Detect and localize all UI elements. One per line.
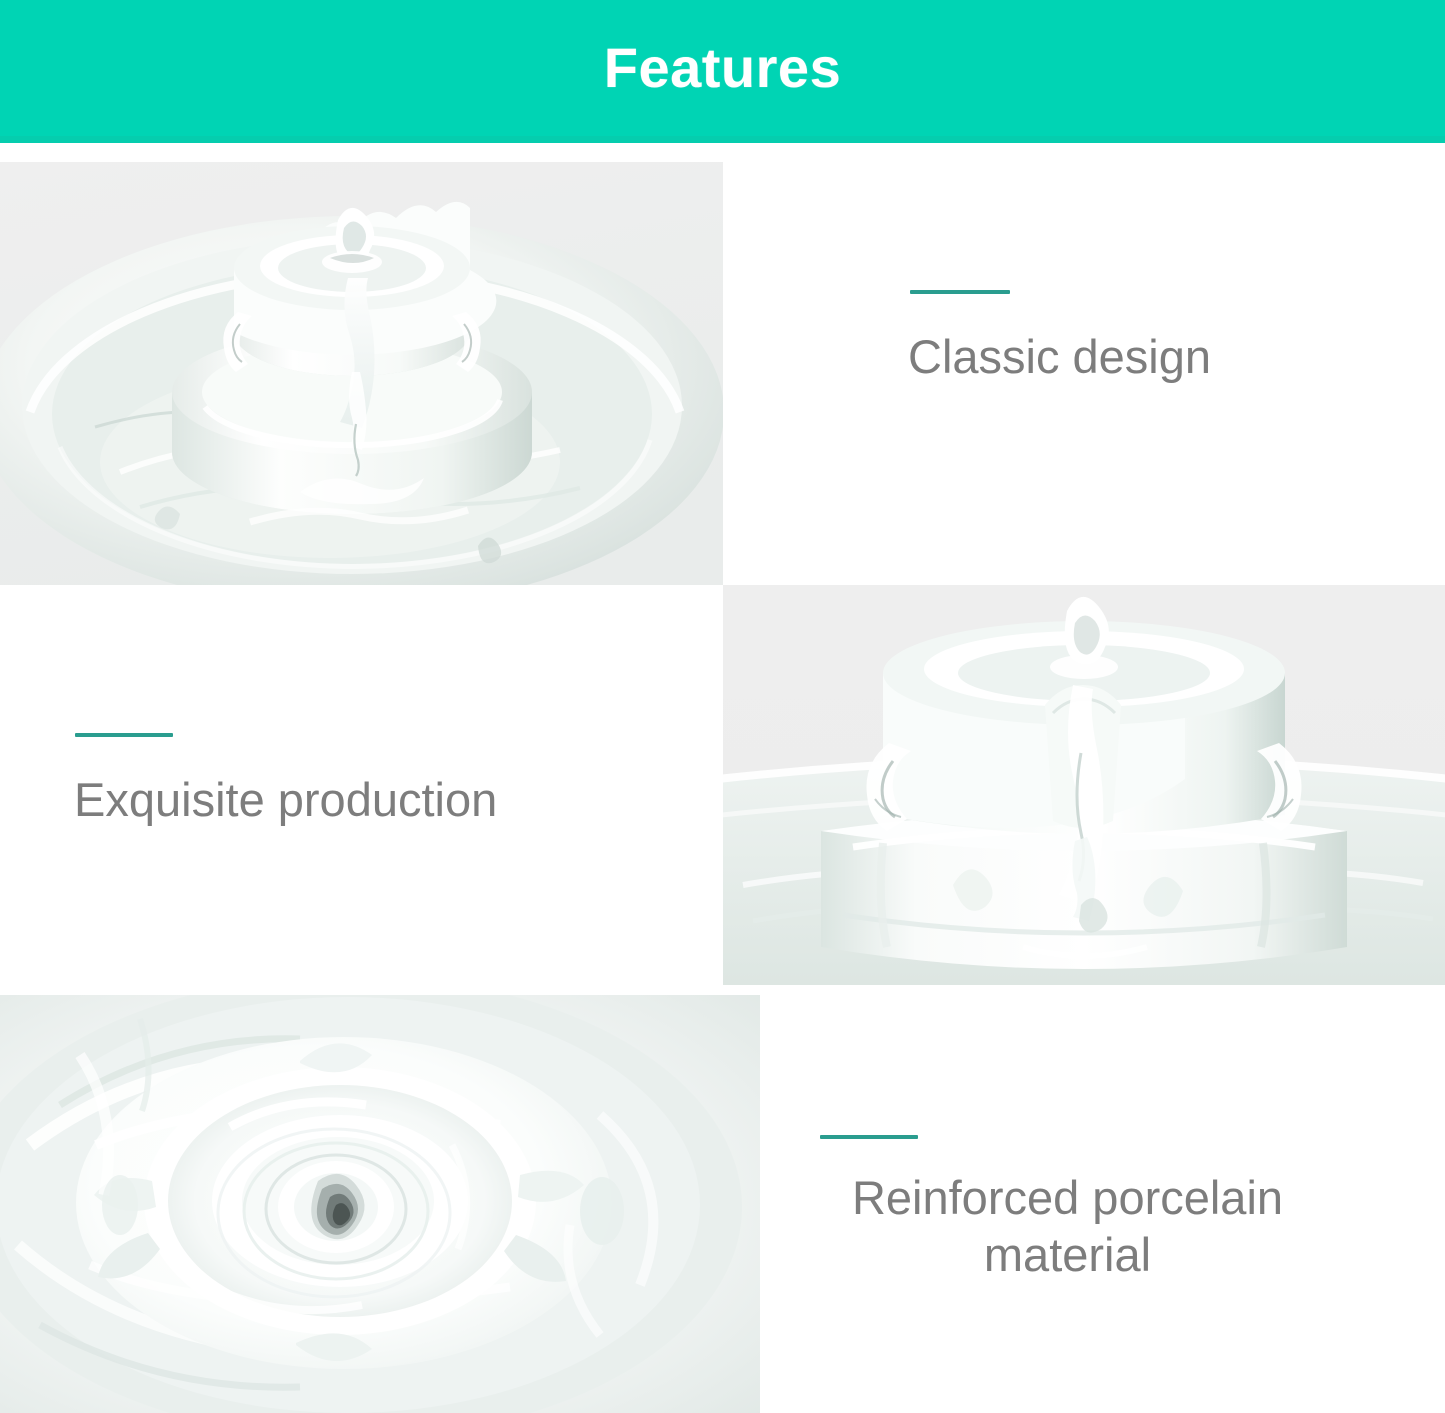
accent-rule-classic-design — [910, 290, 1010, 294]
feature-photo-classic-design — [0, 162, 723, 585]
feature-text-classic-design: Classic design — [880, 290, 1360, 450]
accent-rule-exquisite-production — [75, 733, 173, 737]
page-title: Features — [604, 40, 841, 96]
fountain-front-closeup-illustration — [723, 585, 1445, 985]
feature-text-exquisite-production: Exquisite production — [50, 733, 670, 893]
feature-caption-exquisite-production: Exquisite production — [74, 771, 670, 828]
accent-rule-reinforced-porcelain — [820, 1135, 918, 1139]
feature-photo-reinforced-porcelain — [0, 995, 760, 1413]
fountain-topdown-illustration — [0, 995, 760, 1413]
feature-photo-exquisite-production — [723, 585, 1445, 985]
feature-text-reinforced-porcelain: Reinforced porcelain material — [790, 1135, 1390, 1355]
feature-page: Features — [0, 0, 1445, 1413]
feature-caption-reinforced-porcelain: Reinforced porcelain material — [790, 1169, 1345, 1284]
feature-caption-classic-design: Classic design — [908, 328, 1360, 385]
page-header-banner: Features — [0, 0, 1445, 143]
fountain-three-quarter-illustration — [0, 162, 723, 585]
